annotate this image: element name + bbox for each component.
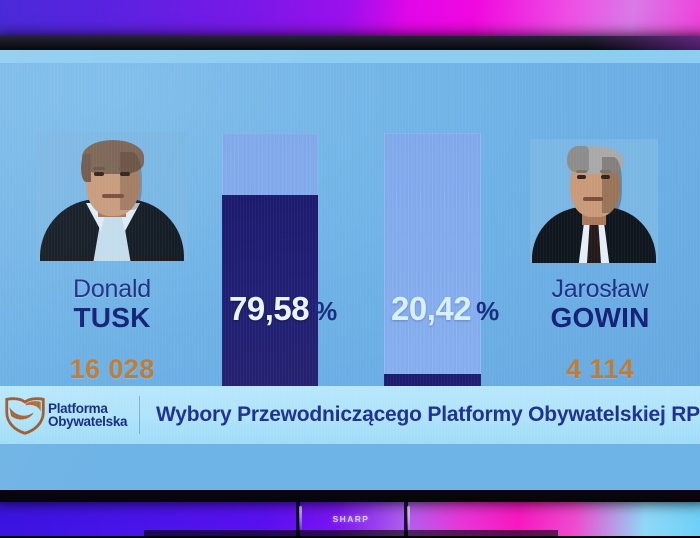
tv-bezel: Donald TUSK 16 028 głosów Jarosław GOWIN… <box>0 36 700 502</box>
bezel-right-reflection <box>588 36 700 50</box>
footer-title: Wybory Przewodniczącego Platformy Obywat… <box>156 403 700 427</box>
broadcast-footer-banner: Platforma Obywatelska Wybory Przewodnicz… <box>0 386 700 444</box>
screen-top-band <box>0 50 700 63</box>
bar-value-label-gowin: 20,42% <box>391 292 499 325</box>
footer-divider <box>139 396 140 434</box>
portrait-face-shadow <box>602 157 622 213</box>
portrait-eyebrow-left <box>576 170 587 173</box>
portrait-eyebrow-right <box>119 167 131 170</box>
candidate-first-name: Jarosław <box>506 277 694 303</box>
portrait-mouth <box>583 197 603 201</box>
candidate-vote-count: 16 028 <box>14 356 210 384</box>
percent-sign: % <box>476 296 499 326</box>
tv-screen: Donald TUSK 16 028 głosów Jarosław GOWIN… <box>0 50 700 490</box>
percent-sign: % <box>314 296 337 326</box>
portrait-eyebrow-right <box>600 170 611 173</box>
tv-brand-label: SHARP <box>0 514 700 524</box>
candidate-last-name: GOWIN <box>506 304 694 333</box>
portrait-mouth <box>102 194 124 198</box>
portrait-eye-right <box>601 175 610 179</box>
portrait-eye-left <box>94 172 104 176</box>
portrait-hair-side <box>81 154 91 182</box>
shield-swoosh-icon <box>4 395 46 435</box>
portrait-eye-left <box>577 175 586 179</box>
logo-wordmark: Platforma Obywatelska <box>48 402 127 429</box>
logo-line-2: Obywatelska <box>48 415 127 429</box>
candidate-last-name: TUSK <box>14 304 210 333</box>
portrait-eye-right <box>120 172 130 176</box>
results-chart-panel: Donald TUSK 16 028 głosów Jarosław GOWIN… <box>0 63 700 386</box>
candidate-first-name: Donald <box>14 277 210 303</box>
portrait-hair-side <box>567 146 589 172</box>
logo-line-1: Platforma <box>48 402 127 416</box>
bezel-lower-shadow <box>144 530 558 538</box>
portrait-donald-tusk <box>36 132 188 261</box>
bar-value-label-tusk: 79,58% <box>229 292 337 325</box>
bar-value-number: 20,42 <box>391 290 471 327</box>
portrait-face-shadow <box>120 152 142 210</box>
platforma-obywatelska-logo: Platforma Obywatelska <box>0 386 137 444</box>
candidate-vote-count: 4 114 <box>506 356 694 384</box>
bar-value-number: 79,58 <box>229 290 309 327</box>
portrait-eyebrow-left <box>93 167 105 170</box>
portrait-jaroslaw-gowin <box>530 139 658 263</box>
